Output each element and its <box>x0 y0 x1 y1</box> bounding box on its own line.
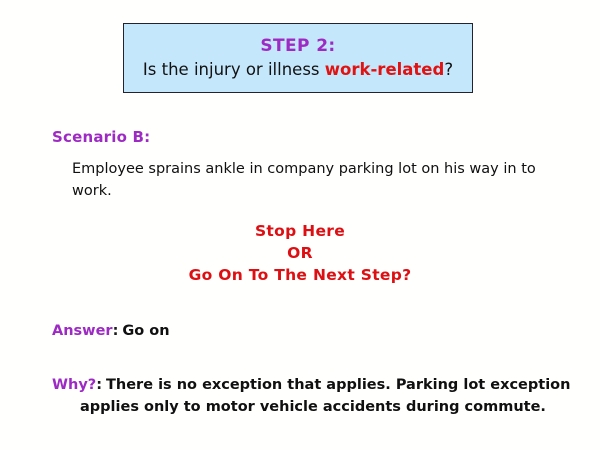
step-label: STEP 2: <box>260 36 335 57</box>
why-text-line-2: applies only to motor vehicle accidents … <box>52 396 582 418</box>
step-title-box: STEP 2: Is the injury or illness work-re… <box>123 23 473 93</box>
why-text-line-1: There is no exception that applies. Park… <box>106 377 570 393</box>
why-label: Why? <box>52 377 96 393</box>
decision-prompt: Stop Here OR Go On To The Next Step? <box>0 220 600 286</box>
slide-canvas: STEP 2: Is the injury or illness work-re… <box>0 0 600 450</box>
answer-label: Answer <box>52 323 113 339</box>
step-question: Is the injury or illness work-related? <box>143 59 453 80</box>
answer-separator: : <box>113 323 119 339</box>
why-line-1-wrap: Why?:There is no exception that applies.… <box>52 374 582 396</box>
step-question-highlight: work-related <box>325 60 445 79</box>
step-question-suffix: ? <box>444 60 453 79</box>
prompt-or: OR <box>0 242 600 264</box>
step-question-prefix: Is the injury or illness <box>143 60 325 79</box>
scenario-body-text: Employee sprains ankle in company parkin… <box>72 158 562 203</box>
why-row: Why?:There is no exception that applies.… <box>52 374 582 419</box>
answer-value: Go on <box>122 323 169 339</box>
why-separator: : <box>96 377 102 393</box>
prompt-go-on: Go On To The Next Step? <box>0 264 600 286</box>
answer-row: Answer:Go on <box>52 322 170 341</box>
prompt-stop-here: Stop Here <box>0 220 600 242</box>
scenario-label: Scenario B: <box>52 128 150 146</box>
